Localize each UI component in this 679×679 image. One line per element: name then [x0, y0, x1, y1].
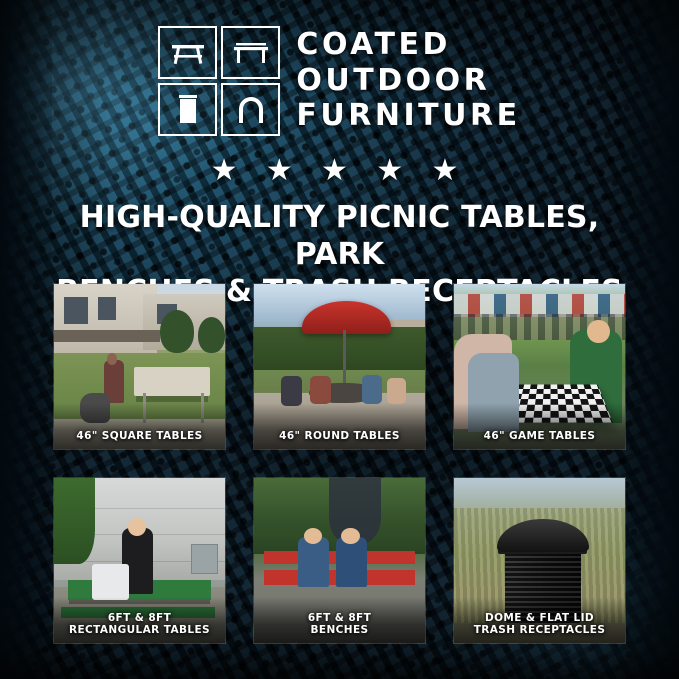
tile-caption-line-1: DOME & FLAT LID: [485, 612, 594, 624]
tile-caption-line-1: 6FT & 8FT: [108, 612, 171, 624]
logo-mark: [158, 26, 280, 136]
park-bench-icon: [221, 26, 280, 79]
trash-receptacle-icon: [158, 83, 217, 136]
logo-word-3: FURNITURE: [296, 99, 520, 134]
tile-caption: DOME & FLAT LID TRASH RECEPTACLES: [454, 607, 625, 643]
tile-caption-line-2: BENCHES: [311, 624, 369, 636]
arch-bench-icon: [221, 83, 280, 136]
tile-caption: 6FT & 8FT RECTANGULAR TABLES: [54, 607, 225, 643]
star-rating: ★ ★ ★ ★ ★: [0, 156, 679, 186]
product-category-grid: 46" SQUARE TABLES: [53, 283, 626, 644]
tile-caption-line-2: TRASH RECEPTACLES: [474, 624, 606, 636]
product-banner-image: COATED OUTDOOR FURNITURE ★ ★ ★ ★ ★ HIGH-…: [0, 0, 679, 679]
tile-square-tables[interactable]: 46" SQUARE TABLES: [53, 283, 226, 450]
tile-caption-line-1: 46" SQUARE TABLES: [76, 430, 202, 442]
logo-word-1: COATED: [296, 28, 520, 63]
tile-caption: 46" GAME TABLES: [454, 425, 625, 449]
tile-caption-line-2: RECTANGULAR TABLES: [69, 624, 210, 636]
tile-round-tables[interactable]: 46" ROUND TABLES: [253, 283, 426, 450]
tile-caption-line-1: 46" ROUND TABLES: [279, 430, 400, 442]
tile-caption: 6FT & 8FT BENCHES: [254, 607, 425, 643]
tile-game-tables[interactable]: 46" GAME TABLES: [453, 283, 626, 450]
tile-caption-line-1: 6FT & 8FT: [308, 612, 371, 624]
tile-caption: 46" ROUND TABLES: [254, 425, 425, 449]
tile-trash-receptacles[interactable]: DOME & FLAT LID TRASH RECEPTACLES: [453, 477, 626, 644]
tile-caption: 46" SQUARE TABLES: [54, 425, 225, 449]
logo-wordmark: COATED OUTDOOR FURNITURE: [296, 28, 520, 134]
logo-word-2: OUTDOOR: [296, 64, 520, 99]
tile-caption-line-1: 46" GAME TABLES: [484, 430, 596, 442]
brand-logo: COATED OUTDOOR FURNITURE: [0, 26, 679, 136]
headline-line-1: HIGH-QUALITY PICNIC TABLES, PARK: [80, 200, 600, 272]
bottom-fade: [0, 653, 679, 679]
picnic-table-icon: [158, 26, 217, 79]
tile-rectangular-tables[interactable]: 6FT & 8FT RECTANGULAR TABLES: [53, 477, 226, 644]
tile-benches[interactable]: 6FT & 8FT BENCHES: [253, 477, 426, 644]
